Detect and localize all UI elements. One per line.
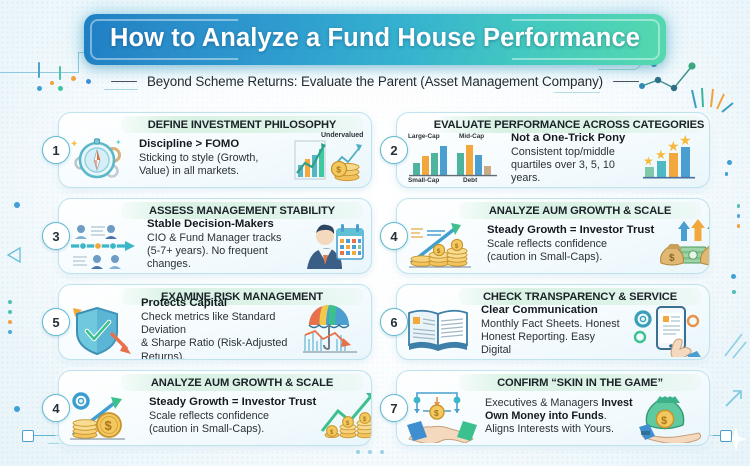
card-body-1: ✦ ✦ Discipline > FOMO Sticking to style … xyxy=(67,133,365,184)
header: How to Analyze a Fund House Performance … xyxy=(0,14,750,89)
card-title-2: EVALUATE PERFORMANCE ACROSS CATEGORIES xyxy=(434,119,704,131)
card-slot-1: DEFINE INVESTMENT PHILOSOPHY xyxy=(42,110,372,192)
card-desc-1-line1: Sticking to style (Growth, xyxy=(139,152,289,165)
decor-right-rail xyxy=(714,150,750,450)
step-badge-6: 6 xyxy=(380,308,408,336)
card-desc-8-line2: Aligns Interests with Yours. xyxy=(485,423,633,436)
card-copy-6: Clear Communication Monthly Fact Sheets.… xyxy=(479,304,627,357)
card-lead-3: Stable Decision-Makers xyxy=(147,218,299,232)
money-bag-hand-icon: $ xyxy=(637,391,703,443)
card-banner-1: DEFINE INVESTMENT PHILOSOPHY xyxy=(121,116,363,133)
card-slot-8: CONFIRM “SKIN IN THE GAME” xyxy=(380,368,710,450)
card-slot-6: CHECK TRANSPARENCY & SERVICE xyxy=(380,282,710,364)
card-banner-2: EVALUATE PERFORMANCE ACROSS CATEGORIES xyxy=(437,116,701,133)
step-card-4[interactable]: ANALYZE AUM GROWTH & SCALE xyxy=(396,198,710,274)
card-title-7: ANALYZE AUM GROWTH & SCALE xyxy=(151,377,333,389)
step-card-7[interactable]: ANALYZE AUM GROWTH & SCALE xyxy=(58,370,372,446)
subtitle-row: Beyond Scheme Returns: Evaluate the Pare… xyxy=(111,74,639,89)
card-slot-4: ANALYZE AUM GROWTH & SCALE xyxy=(380,196,710,278)
decor-left-rail xyxy=(0,150,34,430)
card-banner-7: ANALYZE AUM GROWTH & SCALE xyxy=(121,374,363,391)
card-banner-8: CONFIRM “SKIN IN THE GAME” xyxy=(459,374,701,391)
svg-text:★: ★ xyxy=(679,133,692,148)
growth-chart-coins-icon: Undervalued xyxy=(293,133,365,185)
svg-text:✦: ✦ xyxy=(70,139,78,150)
card-banner-4: ANALYZE AUM GROWTH & SCALE xyxy=(459,202,701,219)
growth-arrow-coin-stacks-icon: $ $ $ xyxy=(320,391,372,443)
card-lead-8-bold2: Own Money into Funds xyxy=(485,410,604,422)
card-body-8: $ Executives & Managers Invest Own Money… xyxy=(405,391,703,442)
card-body-5: Protects Capital Check metrics like Stan… xyxy=(67,305,365,356)
card-slot-2: EVALUATE PERFORMANCE ACROSS CATEGORIES L… xyxy=(380,110,710,192)
step-badge-1: 1 xyxy=(42,136,70,164)
card-copy-8: Executives & Managers Invest Own Money i… xyxy=(483,397,633,437)
card-desc-6-line2: Honest Reporting. Easy Digital xyxy=(481,331,627,357)
card-lead-7: Steady Growth = Investor Trust xyxy=(149,396,316,410)
card-lead-2: Not a One-Trick Pony xyxy=(511,132,637,146)
mobile-gears-hand-icon xyxy=(631,305,703,357)
page-subtitle: Beyond Scheme Returns: Evaluate the Pare… xyxy=(147,74,603,89)
card-body-4: $ $ Steady Growth = In xyxy=(405,219,703,270)
shield-check-icon xyxy=(67,305,135,357)
step-card-3[interactable]: ASSESS MANAGEMENT STABILITY xyxy=(58,198,372,274)
card-copy-2: Not a One-Trick Pony Consistent top/midd… xyxy=(509,132,637,185)
svg-text:★: ★ xyxy=(667,138,680,154)
svg-text:★: ★ xyxy=(655,147,667,162)
sparkle-icon xyxy=(724,426,748,452)
card-desc-5-line1: Check metrics like Standard Deviation xyxy=(141,311,297,337)
card-title-6: CHECK TRANSPARENCY & SERVICE xyxy=(483,291,677,303)
svg-text:✦: ✦ xyxy=(115,138,122,147)
team-timeline-icon xyxy=(67,219,141,271)
step-card-2[interactable]: EVALUATE PERFORMANCE ACROSS CATEGORIES L… xyxy=(396,112,710,188)
undervalued-label: Undervalued xyxy=(321,132,363,139)
svg-text:$: $ xyxy=(105,418,113,433)
step-card-6[interactable]: CHECK TRANSPARENCY & SERVICE xyxy=(396,284,710,360)
compass-gears-icon: ✦ ✦ xyxy=(67,133,133,185)
card-desc-7-line2: (caution in Small-Caps). xyxy=(149,423,316,436)
card-lead-6: Clear Communication xyxy=(481,304,627,318)
card-title-4: ANALYZE AUM GROWTH & SCALE xyxy=(489,205,671,217)
manager-calendar-icon xyxy=(303,219,365,271)
card-lead-8-line2: Own Money into Funds. xyxy=(485,410,633,423)
rising-arrow-coins-icon: $ $ xyxy=(405,219,481,271)
gear-arrow-coin-stack-icon: $ xyxy=(67,391,143,443)
step-card-1[interactable]: DEFINE INVESTMENT PHILOSOPHY xyxy=(58,112,372,188)
handshake-coin-flow-icon: $ xyxy=(405,391,479,443)
card-copy-3: Stable Decision-Makers CIO & Fund Manage… xyxy=(145,218,299,271)
card-lead-8-line1: Executives & Managers Invest xyxy=(485,397,633,410)
card-title-8: CONFIRM “SKIN IN THE GAME” xyxy=(497,377,663,389)
card-slot-5: EXAMINE RISK MANAGEMENT xyxy=(42,282,372,364)
card-desc-7-line1: Scale reflects confidence xyxy=(149,410,316,423)
svg-text:$: $ xyxy=(336,164,341,174)
card-title-1: DEFINE INVESTMENT PHILOSOPHY xyxy=(148,119,337,131)
card-desc-2-line2: quartiles over 3, 5, 10 years. xyxy=(511,159,637,185)
card-banner-6: CHECK TRANSPARENCY & SERVICE xyxy=(459,288,701,305)
category-bar-chart-icon: Large-Cap Mid-Cap Small-Cap Debt xyxy=(405,133,505,185)
page-title: How to Analyze a Fund House Performance xyxy=(110,24,640,53)
step-badge-3: 3 xyxy=(42,222,70,250)
open-book-icon xyxy=(405,305,475,357)
infographic-page: How to Analyze a Fund House Performance … xyxy=(0,0,750,466)
triangle-marker-icon xyxy=(6,246,22,264)
step-card-5[interactable]: EXAMINE RISK MANAGEMENT xyxy=(58,284,372,360)
step-card-8[interactable]: CONFIRM “SKIN IN THE GAME” xyxy=(396,370,710,446)
umbrella-volatility-chart-icon xyxy=(301,305,365,357)
svg-text:$: $ xyxy=(709,253,710,264)
card-desc-4-line2: (caution in Small-Caps). xyxy=(487,251,654,264)
card-copy-7: Steady Growth = Investor Trust Scale ref… xyxy=(147,396,316,436)
title-banner-wrap: How to Analyze a Fund House Performance xyxy=(84,14,666,65)
step-badge-7: 4 xyxy=(42,394,70,422)
card-lead-4: Steady Growth = Investor Trust xyxy=(487,224,654,238)
card-slot-3: ASSESS MANAGEMENT STABILITY xyxy=(42,196,372,278)
svg-text:$: $ xyxy=(434,408,439,418)
card-desc-3-line2: (5-7+ years). No frequent changes. xyxy=(147,245,299,271)
card-desc-3-line1: CIO & Fund Manager tracks xyxy=(147,232,299,245)
card-lead-8-suffix: . xyxy=(604,410,607,422)
card-desc-6-line1: Monthly Fact Sheets. Honest xyxy=(481,318,627,331)
subtitle-rule-left xyxy=(111,81,137,83)
step-badge-5: 5 xyxy=(42,308,70,336)
card-slot-7: ANALYZE AUM GROWTH & SCALE xyxy=(42,368,372,450)
money-bags-up-arrows-icon: $ $ xyxy=(658,219,710,271)
card-body-3: Stable Decision-Makers CIO & Fund Manage… xyxy=(67,219,365,270)
card-copy-5: Protects Capital Check metrics like Stan… xyxy=(139,297,297,360)
step-badge-2: 2 xyxy=(380,136,408,164)
svg-text:★: ★ xyxy=(643,154,654,168)
card-lead-8-prefix: Executives & Managers xyxy=(485,397,601,409)
step-badge-4: 4 xyxy=(380,222,408,250)
card-lead-1: Discipline > FOMO xyxy=(139,138,289,152)
card-desc-2-line1: Consistent top/middle xyxy=(511,146,637,159)
step-badge-8: 7 xyxy=(380,394,408,422)
card-body-7: $ Steady Growth = Investor Trust Scale r… xyxy=(67,391,365,442)
card-banner-3: ASSESS MANAGEMENT STABILITY xyxy=(121,202,363,219)
card-desc-4-line1: Scale reflects confidence xyxy=(487,238,654,251)
steps-grid: DEFINE INVESTMENT PHILOSOPHY xyxy=(42,110,710,450)
svg-text:$: $ xyxy=(437,247,441,254)
card-body-6: Clear Communication Monthly Fact Sheets.… xyxy=(405,305,703,356)
card-desc-1-line2: Value) in all markets. xyxy=(139,165,289,178)
title-banner: How to Analyze a Fund House Performance xyxy=(84,14,666,65)
slash-lines-icon xyxy=(722,330,748,360)
card-title-3: ASSESS MANAGEMENT STABILITY xyxy=(149,205,335,217)
svg-text:$: $ xyxy=(669,253,675,264)
card-body-2: Large-Cap Mid-Cap Small-Cap Debt xyxy=(405,133,703,184)
star-rating-bars-icon: ★ ★ ★ ★ xyxy=(641,133,703,185)
subtitle-rule-right xyxy=(613,81,639,83)
arrow-tip-icon xyxy=(724,388,744,410)
card-copy-1: Discipline > FOMO Sticking to style (Gro… xyxy=(137,138,289,178)
card-lead-5: Protects Capital xyxy=(141,297,297,311)
svg-text:$: $ xyxy=(661,415,667,427)
card-desc-5-line2: & Sharpe Ratio (Risk-Adjusted Returns). xyxy=(141,337,297,360)
card-lead-8-bold1: Invest xyxy=(601,397,632,409)
svg-text:$: $ xyxy=(455,242,459,249)
card-copy-4: Steady Growth = Investor Trust Scale ref… xyxy=(485,224,654,264)
